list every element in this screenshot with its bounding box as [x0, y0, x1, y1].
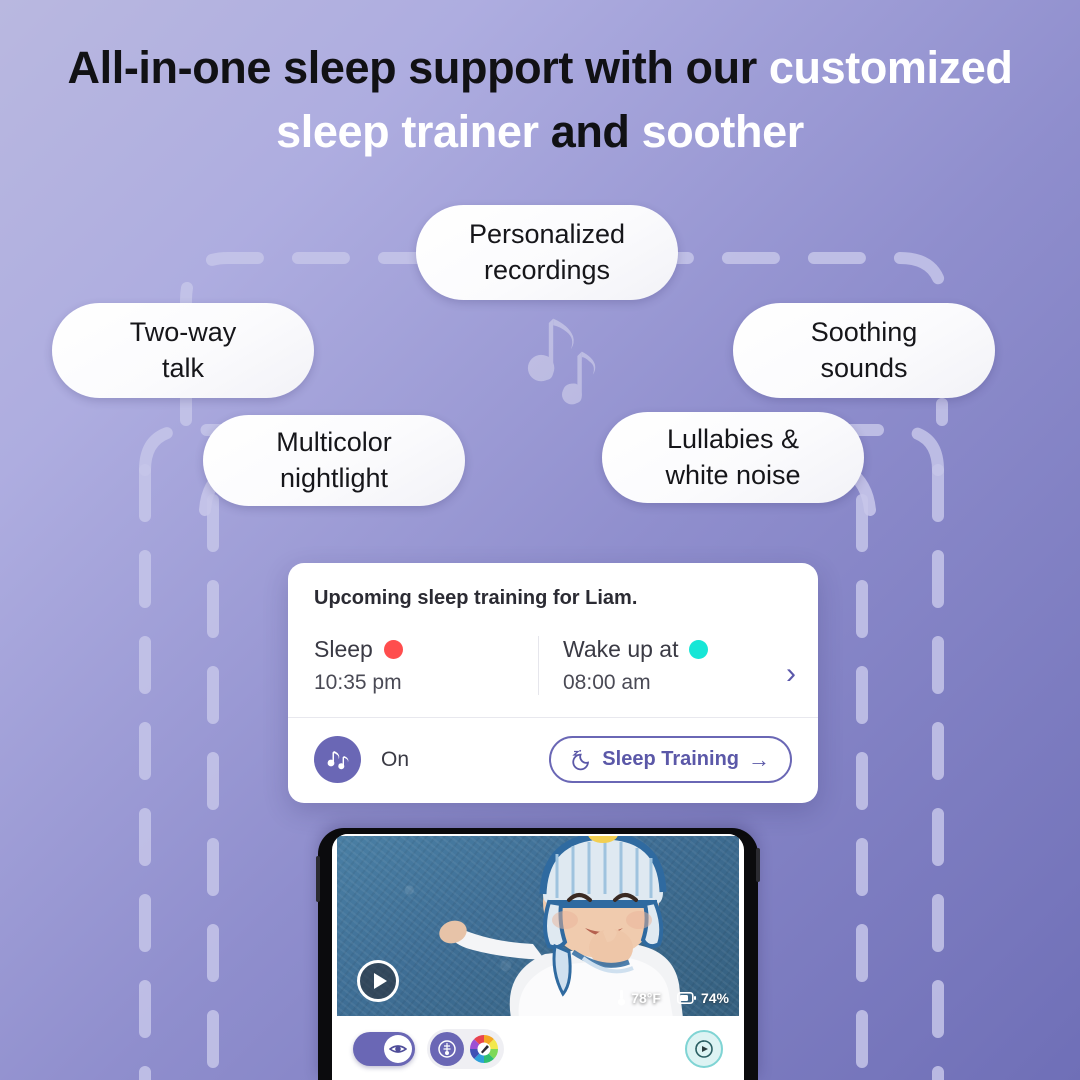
play-icon [374, 973, 387, 989]
headline-line-2: sleep trainer and soother [0, 100, 1080, 164]
wake-column: Wake up at 08:00 am [538, 636, 768, 695]
wake-label: Wake up at [563, 636, 678, 663]
color-wheel-icon [468, 1033, 500, 1065]
pill-label-line1: Soothing [811, 315, 918, 351]
feed-status-bar: 78°F 74% [617, 989, 729, 1006]
feature-pill-two-way-talk[interactable]: Two-way talk [52, 303, 314, 398]
headline-line1-light: customized [769, 42, 1013, 93]
feature-pill-soothing-sounds[interactable]: Soothing sounds [733, 303, 995, 398]
sleep-time: 10:35 pm [314, 671, 538, 695]
arrow-right-icon: → [748, 749, 770, 771]
phone-screen: 78°F 74% [332, 834, 744, 1080]
headline-line1-dark: All-in-one sleep support with our [68, 42, 769, 93]
schedule-row: Sleep 10:35 pm Wake up at 08:00 am [314, 636, 792, 695]
phone-power-button [756, 848, 760, 882]
sleep-column: Sleep 10:35 pm [314, 636, 538, 695]
play-button[interactable] [357, 960, 399, 1002]
light-controls-group [427, 1029, 504, 1069]
baby-camera-feed[interactable]: 78°F 74% [337, 836, 739, 1016]
card-schedule-section: Upcoming sleep training for Liam. Sleep … [288, 563, 818, 717]
record-playback-button[interactable] [685, 1030, 723, 1068]
pill-label-line2: recordings [469, 253, 625, 289]
pill-label-line2: white noise [665, 458, 800, 494]
sleep-status-dot [384, 640, 403, 659]
music-notes-icon [325, 747, 351, 773]
card-sound-section: On Sleep Training → [288, 718, 818, 803]
feature-pill-lullabies-white-noise[interactable]: Lullabies & white noise [602, 412, 864, 503]
feature-pill-multicolor-nightlight[interactable]: Multicolor nightlight [203, 415, 465, 506]
temperature-value: 78°F [631, 990, 661, 1006]
pill-label-line2: talk [130, 351, 237, 387]
sleep-label-row: Sleep [314, 636, 538, 663]
color-wheel-button[interactable] [467, 1032, 501, 1066]
battery-icon [677, 992, 696, 1004]
chevron-right-icon[interactable]: › [786, 659, 796, 689]
battery-readout: 74% [677, 990, 729, 1006]
temperature-readout: 78°F [617, 989, 661, 1006]
wake-status-dot [689, 640, 708, 659]
battery-value: 74% [701, 990, 729, 1006]
headline-line2-light-a: sleep trainer [276, 106, 551, 157]
sleep-training-button-label: Sleep Training [602, 748, 739, 771]
wake-time: 08:00 am [563, 671, 768, 695]
pill-label-line1: Lullabies & [665, 422, 800, 458]
pill-label-line1: Two-way [130, 315, 237, 351]
phone-app-viewport: 78°F 74% [337, 834, 739, 1080]
music-note-icon [496, 312, 606, 422]
headline-line2-light-b: soother [630, 106, 804, 157]
pill-label-line1: Multicolor [276, 425, 392, 461]
wake-label-row: Wake up at [563, 636, 768, 663]
camera-controls-toolbar [337, 1018, 739, 1080]
card-title: Upcoming sleep training for Liam. [314, 587, 792, 610]
sleep-training-card[interactable]: Upcoming sleep training for Liam. Sleep … [288, 563, 818, 803]
toggle-knob [384, 1035, 412, 1063]
feature-pill-personalized-recordings[interactable]: Personalized recordings [416, 205, 678, 300]
sleep-training-button[interactable]: Sleep Training → [549, 736, 792, 783]
pill-label-line1: Personalized [469, 217, 625, 253]
night-vision-toggle[interactable] [353, 1032, 415, 1066]
sound-status-label: On [381, 748, 409, 772]
eye-icon [389, 1043, 407, 1055]
record-playback-icon [693, 1038, 715, 1060]
phone-mockup: 78°F 74% [318, 828, 758, 1080]
sound-status-button[interactable] [314, 736, 361, 783]
nightlight-button[interactable] [430, 1032, 464, 1066]
headline-line-1: All-in-one sleep support with our custom… [0, 36, 1080, 100]
pill-label-line2: sounds [811, 351, 918, 387]
thermometer-icon [617, 989, 626, 1006]
headline-line2-dark: and [551, 106, 630, 157]
page-headline: All-in-one sleep support with our custom… [0, 36, 1080, 164]
moon-zzz-icon [571, 749, 593, 771]
pill-label-line2: nightlight [276, 461, 392, 497]
nightlight-icon [437, 1039, 457, 1059]
sleep-label: Sleep [314, 636, 373, 663]
phone-volume-button [316, 856, 320, 902]
